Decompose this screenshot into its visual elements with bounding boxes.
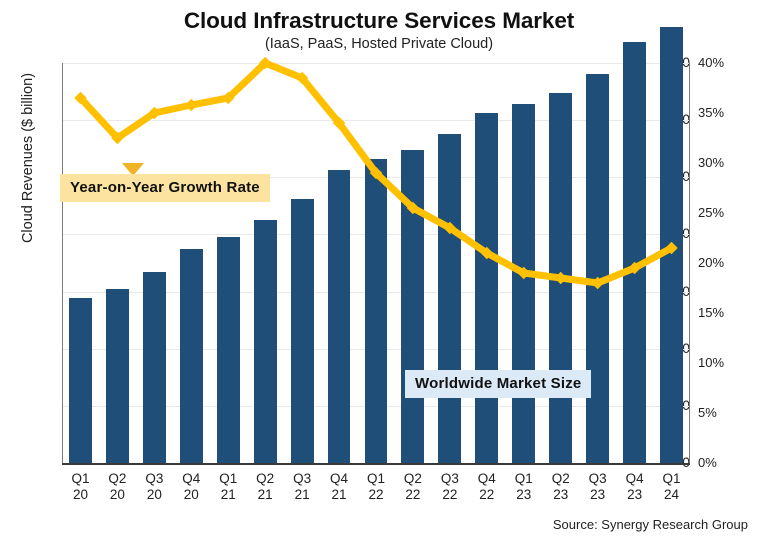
y-tick-right-20pct: 20% [698, 255, 742, 270]
x-tick-quarter: Q1 [505, 471, 542, 487]
x-tick-year: 20 [173, 487, 210, 503]
x-tick-q3-20: Q320 [136, 471, 173, 503]
x-tick-q3-22: Q322 [431, 471, 468, 503]
growth-rate-callout: Year-on-Year Growth Rate [60, 174, 270, 202]
market-size-callout: Worldwide Market Size [405, 370, 591, 398]
x-tick-q4-20: Q420 [173, 471, 210, 503]
x-tick-quarter: Q4 [173, 471, 210, 487]
x-tick-quarter: Q1 [653, 471, 690, 487]
x-tick-quarter: Q2 [247, 471, 284, 487]
growth-line-series [62, 63, 690, 464]
axis-line-right [689, 63, 690, 464]
x-tick-q3-21: Q321 [284, 471, 321, 503]
y-axis-left-label: Cloud Revenues ($ billion) [20, 58, 36, 258]
x-tick-year: 20 [136, 487, 173, 503]
x-tick-quarter: Q2 [394, 471, 431, 487]
x-tick-quarter: Q1 [358, 471, 395, 487]
y-tick-right-0pct: 0% [698, 455, 742, 470]
x-tick-year: 23 [542, 487, 579, 503]
x-tick-q2-23: Q223 [542, 471, 579, 503]
y-tick-right-30pct: 30% [698, 155, 742, 170]
x-tick-q2-20: Q220 [99, 471, 136, 503]
axis-line-bottom [62, 463, 690, 465]
y-tick-right-35pct: 35% [698, 105, 742, 120]
x-tick-quarter: Q4 [468, 471, 505, 487]
y-tick-right-25pct: 25% [698, 205, 742, 220]
y-tick-right-10pct: 10% [698, 355, 742, 370]
chart-canvas: Cloud Infrastructure Services Market (Ia… [0, 0, 758, 542]
x-tick-q2-22: Q222 [394, 471, 431, 503]
x-tick-year: 21 [321, 487, 358, 503]
chart-title: Cloud Infrastructure Services Market [0, 8, 758, 34]
x-tick-quarter: Q1 [62, 471, 99, 487]
x-tick-year: 22 [468, 487, 505, 503]
x-tick-year: 21 [284, 487, 321, 503]
x-tick-year: 20 [62, 487, 99, 503]
axis-line-left [62, 63, 63, 464]
x-tick-q1-21: Q121 [210, 471, 247, 503]
x-tick-q1-20: Q120 [62, 471, 99, 503]
y-tick-right-15pct: 15% [698, 305, 742, 320]
x-tick-year: 22 [358, 487, 395, 503]
x-tick-year: 23 [505, 487, 542, 503]
x-tick-quarter: Q2 [99, 471, 136, 487]
x-tick-quarter: Q2 [542, 471, 579, 487]
x-tick-quarter: Q1 [210, 471, 247, 487]
x-tick-quarter: Q3 [579, 471, 616, 487]
x-tick-q3-23: Q323 [579, 471, 616, 503]
growth-marker-q2-23 [555, 272, 567, 284]
x-tick-q4-23: Q423 [616, 471, 653, 503]
x-tick-quarter: Q3 [136, 471, 173, 487]
x-tick-quarter: Q4 [616, 471, 653, 487]
y-tick-right-40pct: 40% [698, 55, 742, 70]
x-tick-year: 23 [616, 487, 653, 503]
source-attribution: Source: Synergy Research Group [553, 517, 748, 532]
x-tick-quarter: Q3 [431, 471, 468, 487]
y-tick-right-5pct: 5% [698, 405, 742, 420]
x-tick-q4-21: Q421 [321, 471, 358, 503]
x-tick-q1-24: Q124 [653, 471, 690, 503]
x-tick-year: 23 [579, 487, 616, 503]
x-tick-year: 20 [99, 487, 136, 503]
plot-area [62, 63, 690, 463]
x-tick-year: 21 [210, 487, 247, 503]
x-tick-q1-22: Q122 [358, 471, 395, 503]
x-tick-year: 22 [431, 487, 468, 503]
x-tick-q2-21: Q221 [247, 471, 284, 503]
x-tick-quarter: Q3 [284, 471, 321, 487]
x-tick-q1-23: Q123 [505, 471, 542, 503]
x-tick-quarter: Q4 [321, 471, 358, 487]
x-tick-year: 21 [247, 487, 284, 503]
x-tick-year: 22 [394, 487, 431, 503]
x-tick-year: 24 [653, 487, 690, 503]
x-tick-q4-22: Q422 [468, 471, 505, 503]
